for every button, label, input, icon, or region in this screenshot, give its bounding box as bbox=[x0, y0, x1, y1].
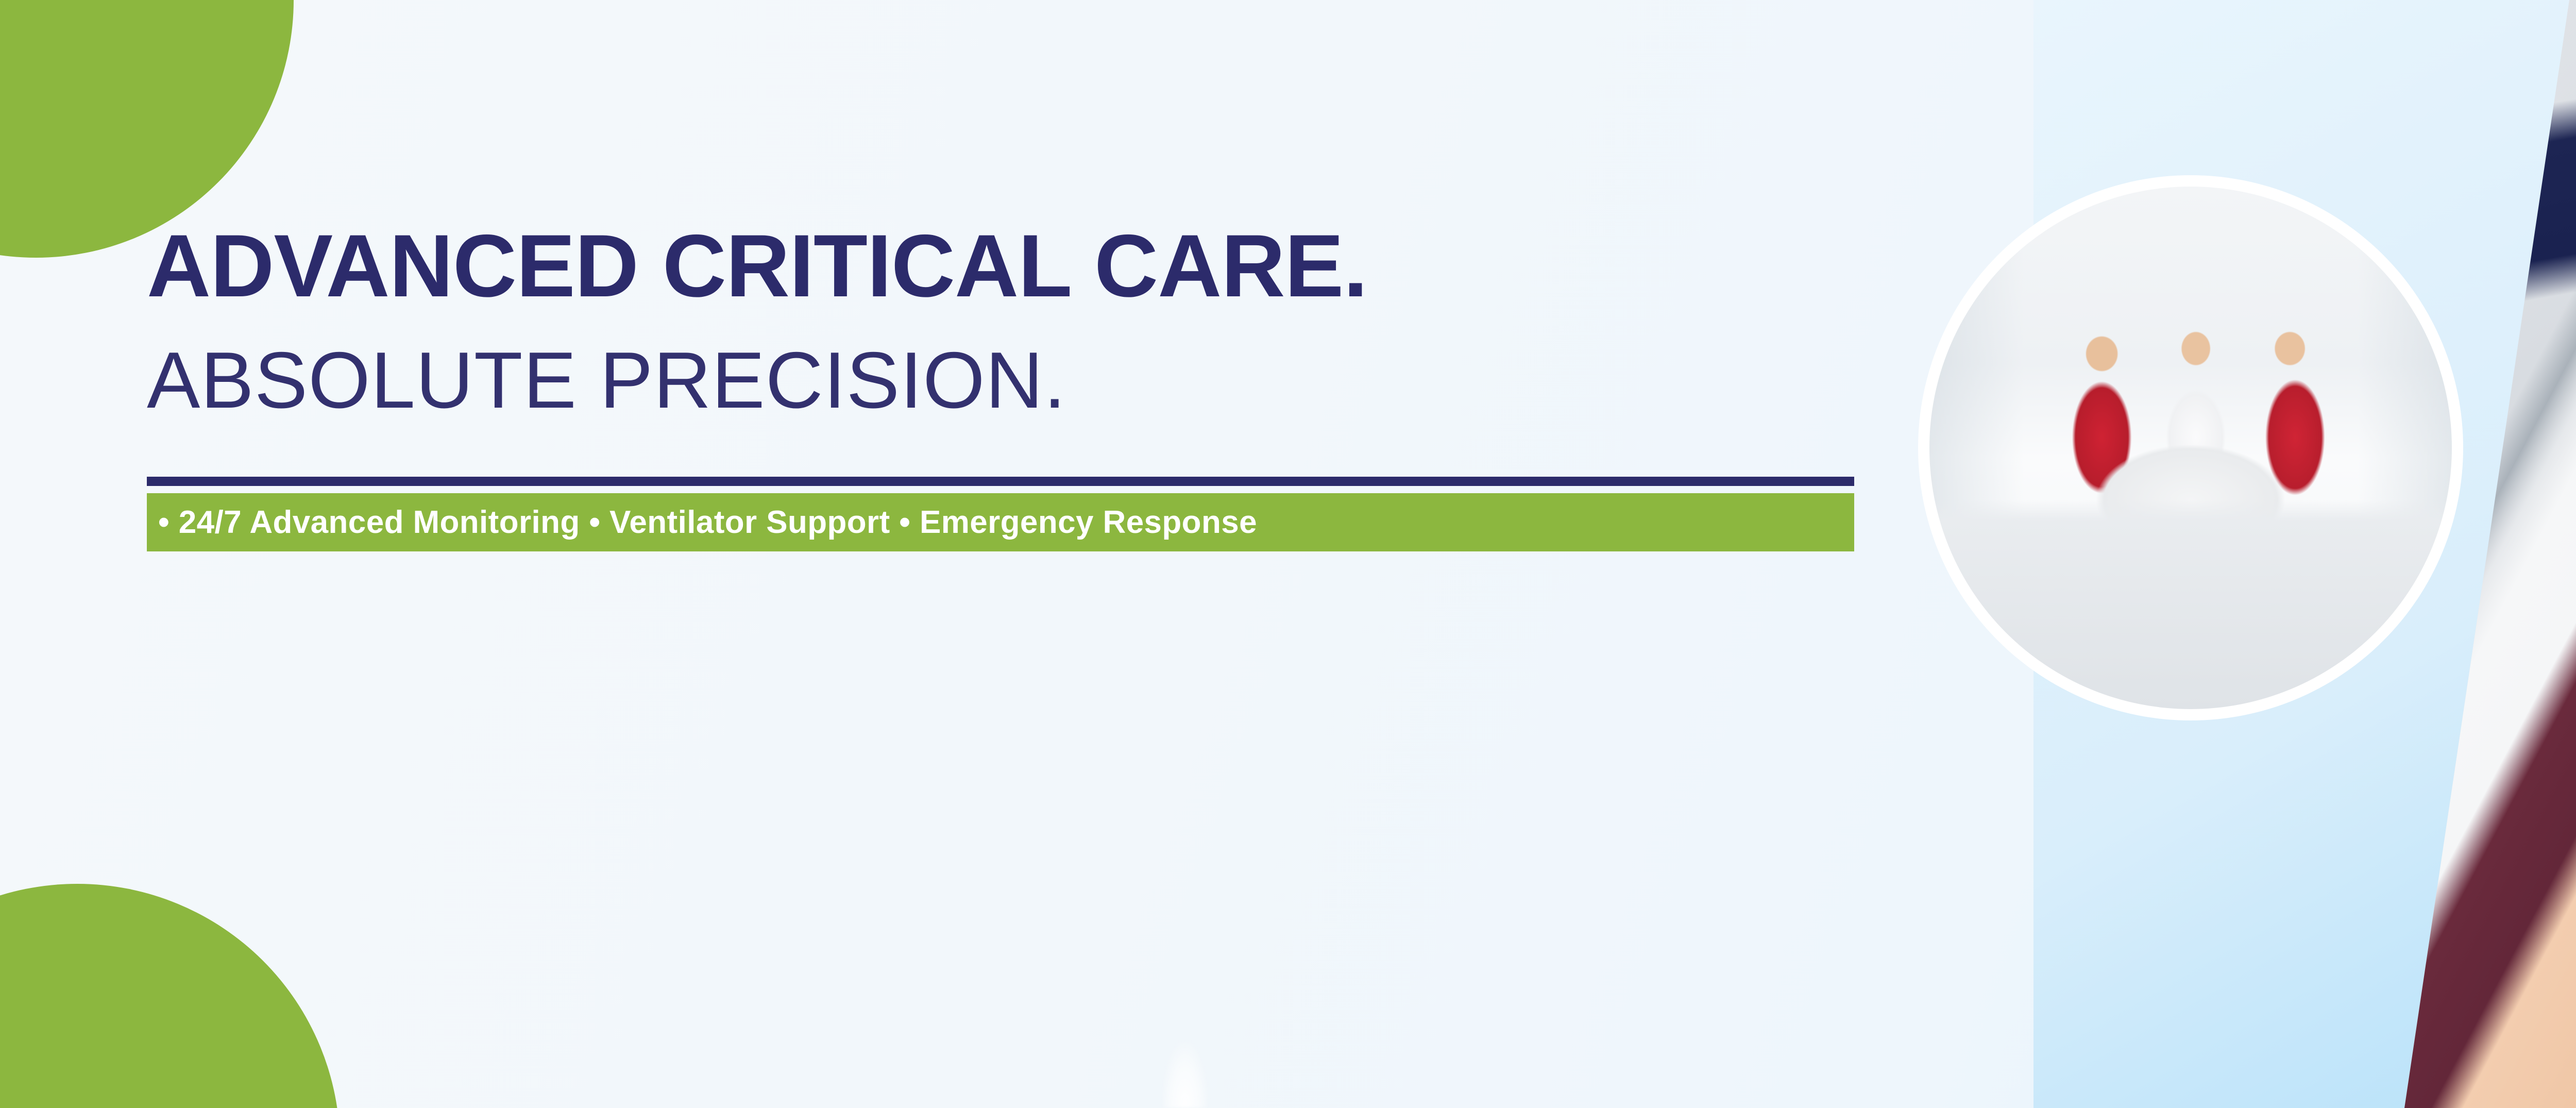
tagline-bar: • 24/7 Advanced Monitoring • Ventilator … bbox=[147, 493, 1854, 551]
headline-secondary: ABSOLUTE PRECISION. bbox=[147, 340, 1862, 420]
headline-block: ADVANCED CRITICAL CARE. ABSOLUTE PRECISI… bbox=[147, 222, 1862, 551]
green-corner-decor-bottom-left bbox=[0, 884, 340, 1108]
tagline-text: • 24/7 Advanced Monitoring • Ventilator … bbox=[147, 504, 1257, 541]
critical-care-banner: ADVANCED CRITICAL CARE. ABSOLUTE PRECISI… bbox=[0, 0, 2576, 1108]
navy-divider-rule bbox=[147, 477, 1854, 486]
circular-photo-inset bbox=[1918, 175, 2463, 720]
gurney-corridor-photo bbox=[1929, 187, 2452, 709]
headline-primary: ADVANCED CRITICAL CARE. bbox=[147, 222, 1862, 310]
background-wisp-decor bbox=[1162, 1041, 1208, 1108]
